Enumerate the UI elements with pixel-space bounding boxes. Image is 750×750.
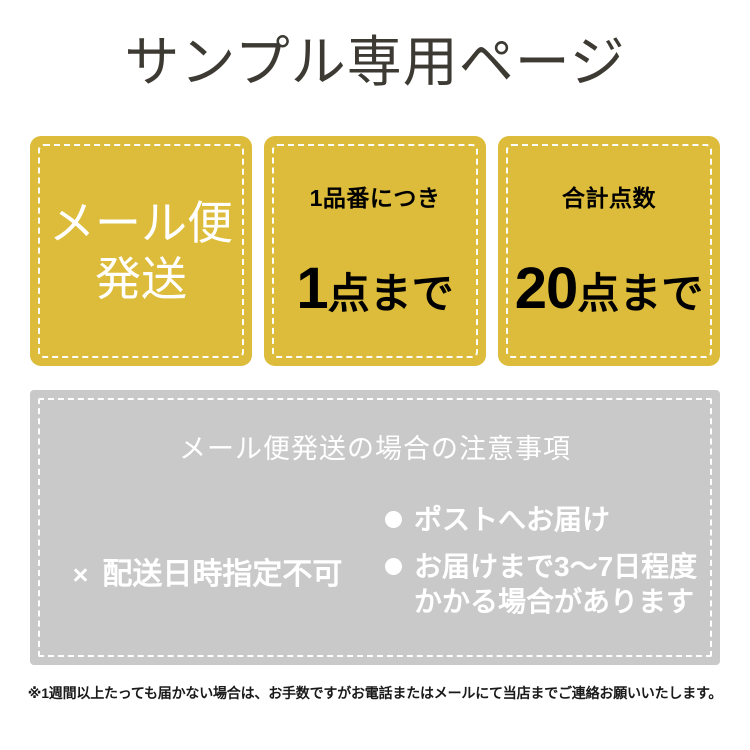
total-limit-heading: 合計点数 [498, 184, 720, 212]
bullet-dot-icon [385, 511, 402, 528]
list-item: お届けまで3〜7日程度かかる場合があります [385, 549, 720, 619]
notice-heading: メール便発送の場合の注意事項 [30, 432, 720, 466]
per-item-limit-value: 1点まで [264, 258, 486, 325]
notice-panel: メール便発送の場合の注意事項 × 配送日時指定不可 ポストへお届け お届けまで3… [30, 390, 720, 665]
page-title: サンプル専用ページ [0, 27, 750, 97]
total-limit-unit: 点まで [577, 270, 703, 317]
per-item-limit-heading: 1品番につき [264, 184, 486, 212]
dashed-border-decoration [506, 144, 712, 358]
shipping-method-line-2: 発送 [95, 251, 187, 307]
feature-box-row: メール便 発送 1品番につき 1点まで 合計点数 20点まで [30, 136, 720, 366]
feature-box-per-item-limit: 1品番につき 1点まで [264, 136, 486, 366]
total-limit-value: 20点まで [498, 258, 720, 325]
sample-shipping-banner: サンプル専用ページ メール便 発送 1品番につき 1点まで 合計点数 20点まで [0, 0, 750, 750]
list-item: ポストへお届け [385, 502, 720, 537]
feature-box-shipping-method-content: メール便 発送 [30, 136, 252, 366]
feature-box-shipping-method: メール便 発送 [30, 136, 252, 366]
bullet-dot-icon [385, 558, 402, 575]
footnote: ※1週間以上たっても届かない場合は、お手数ですがお電話またはメールにて当店までご… [0, 683, 750, 703]
notice-right-column: ポストへお届け お届けまで3〜7日程度かかる場合があります [385, 500, 720, 631]
no-date-specification-item: × 配送日時指定不可 [73, 556, 343, 594]
per-item-limit-number: 1 [296, 256, 327, 321]
notice-left-column: × 配送日時指定不可 [30, 500, 385, 650]
cross-mark-icon: × [73, 556, 89, 594]
shipping-method-line-1: メール便 [49, 195, 233, 251]
feature-box-total-limit: 合計点数 20点まで [498, 136, 720, 366]
notice-body: × 配送日時指定不可 ポストへお届け お届けまで3〜7日程度かかる場合があります [30, 500, 720, 650]
delivery-to-mailbox-label: ポストへお届け [414, 502, 610, 537]
no-date-specification-label: 配送日時指定不可 [102, 556, 342, 594]
delivery-time-label: お届けまで3〜7日程度かかる場合があります [414, 549, 720, 619]
per-item-limit-unit: 点まで [328, 270, 454, 317]
dashed-border-decoration [272, 144, 478, 358]
total-limit-number: 20 [515, 256, 578, 321]
